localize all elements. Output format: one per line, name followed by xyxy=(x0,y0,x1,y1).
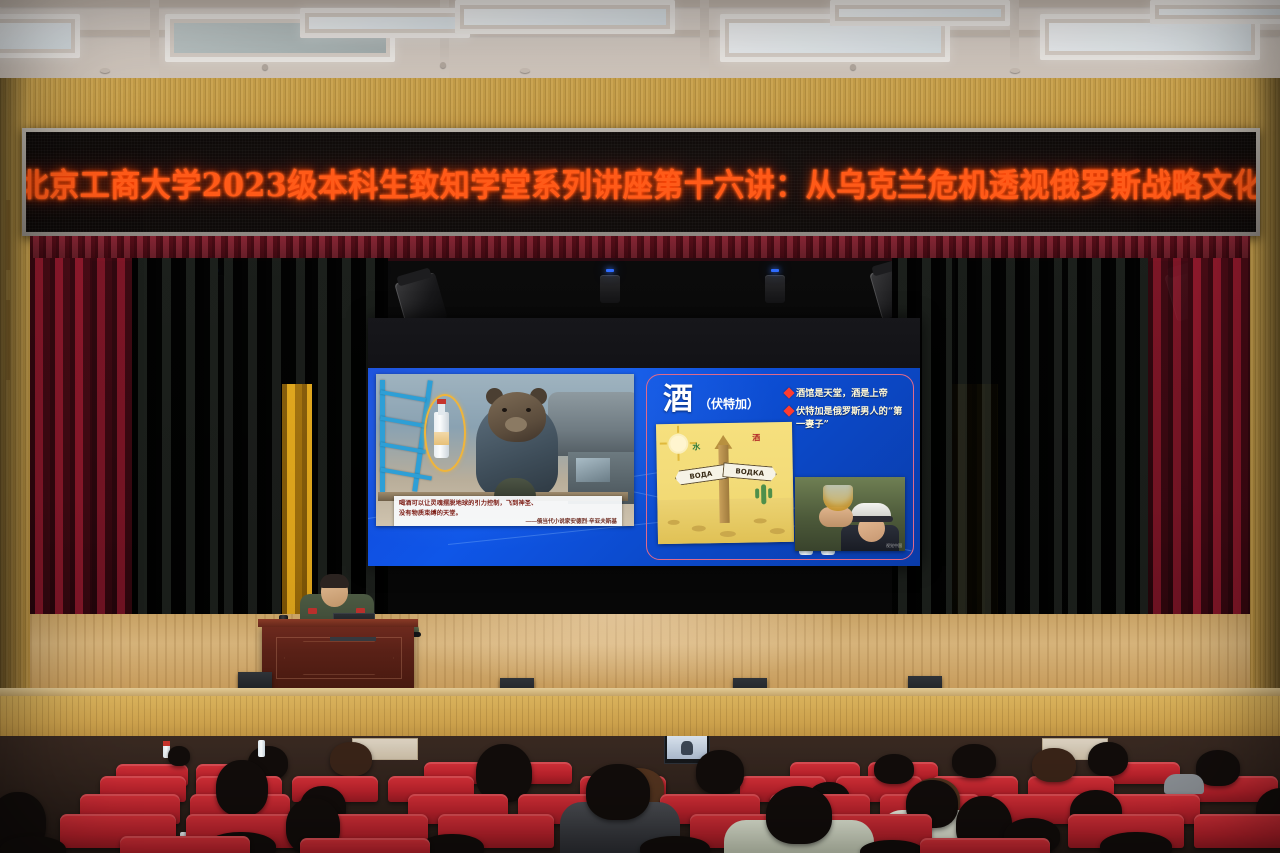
sun-icon xyxy=(670,436,686,452)
skylight xyxy=(300,8,470,38)
slide-quote-box: 喝酒可以让灵魂摆脱地球的引力控制，飞到神圣、 没有物质束缚的天堂。 ——俄当代小… xyxy=(394,496,622,526)
audience-seating xyxy=(0,736,1280,853)
photo-watermark: 视觉中国 xyxy=(886,543,902,549)
military-truck-tank xyxy=(548,392,634,456)
audience-head xyxy=(0,836,66,853)
audience-head xyxy=(216,760,268,816)
seat[interactable] xyxy=(120,836,250,853)
diamond-bullet-icon xyxy=(783,405,794,416)
lectern-top xyxy=(258,619,418,627)
ceiling-downlight xyxy=(100,68,110,73)
stage-edge xyxy=(0,688,1280,696)
skylight xyxy=(830,0,1010,26)
thermos-dark xyxy=(168,746,190,766)
cactus-icon xyxy=(761,484,766,504)
bear-with-vodka-photo: 喝酒可以让灵魂摆脱地球的引力控制，飞到神圣、 没有物质束缚的天堂。 ——俄当代小… xyxy=(376,374,634,526)
bear-eye xyxy=(526,408,531,412)
sun-ray xyxy=(677,426,679,433)
bear-eye xyxy=(502,408,507,412)
desert-signpost-cartoon: 水 酒 ВОДА ВОДКА xyxy=(656,422,794,544)
bullet-text: 伏特加是俄罗斯男人的“第一妻子” xyxy=(796,405,907,431)
slide-bullet-item: 伏特加是俄罗斯男人的“第一妻子” xyxy=(785,405,907,431)
stage-light-led-icon xyxy=(771,269,779,272)
truck-window xyxy=(576,458,610,482)
skylight xyxy=(1150,0,1280,24)
audience-head xyxy=(640,836,710,853)
stage-floor-glow xyxy=(410,614,830,688)
laptop-base xyxy=(330,637,376,641)
sailor-hat xyxy=(851,503,891,518)
ceiling-downlight xyxy=(850,64,856,70)
slide-bullet-item: 酒馆是天堂，酒是上帝 xyxy=(785,387,907,400)
audience-head xyxy=(586,764,650,820)
audience-head xyxy=(330,742,372,776)
laptop-screen xyxy=(667,736,707,759)
ceiling-downlight xyxy=(520,68,530,73)
sun-ray xyxy=(660,443,667,445)
stage-apron-wall xyxy=(0,688,1280,740)
audience-head xyxy=(766,786,832,844)
skylight xyxy=(0,14,80,58)
grey-cap xyxy=(1164,774,1204,794)
audience-head xyxy=(1100,832,1172,853)
stage-light-icon xyxy=(600,275,620,303)
ceiling-beam xyxy=(150,0,159,78)
auditorium-photo: 北京工商大学2023级本科生致知学堂系列讲座第十六讲：从乌克兰危机透视俄罗斯战略… xyxy=(0,0,1280,853)
wall-seam xyxy=(6,200,10,270)
led-display-screen: 喝酒可以让灵魂摆脱地球的引力控制，飞到神圣、 没有物质束缚的天堂。 ——俄当代小… xyxy=(368,318,920,566)
ceiling-downlight xyxy=(262,64,268,70)
skylight xyxy=(455,0,675,34)
seat[interactable] xyxy=(920,838,1050,853)
cartoon-label-water: 水 xyxy=(692,441,700,452)
bullet-text: 酒馆是天堂，酒是上帝 xyxy=(796,387,888,400)
led-banner-text: 北京工商大学2023级本科生致知学堂系列讲座第十六讲：从乌克兰危机透视俄罗斯战略… xyxy=(26,159,1256,206)
quote-line-1: 喝酒可以让灵魂摆脱地球的引力控制，飞到神圣、 xyxy=(399,499,617,509)
sign-vodka: ВОДКА xyxy=(722,462,777,482)
quote-line-2: 没有物质束缚的天堂。 xyxy=(399,509,617,519)
drinking-glass xyxy=(823,485,853,511)
sailor-drinking-photo: 视觉中国 xyxy=(795,477,905,551)
audience-head xyxy=(696,750,744,794)
led-banner-screen: 北京工商大学2023级本科生致知学堂系列讲座第十六讲：从乌克兰危机透视俄罗斯战略… xyxy=(26,132,1256,232)
rank-insignia xyxy=(308,608,317,614)
seat[interactable] xyxy=(1194,814,1280,848)
audience-head xyxy=(1088,742,1128,776)
ceiling-downlight xyxy=(1010,68,1020,73)
signpost xyxy=(718,445,729,523)
highlight-ellipse xyxy=(424,394,466,472)
seat[interactable] xyxy=(300,838,430,853)
audience-head xyxy=(874,754,914,784)
ceiling-beam xyxy=(700,0,709,78)
diamond-bullet-icon xyxy=(783,387,794,398)
presentation-slide: 喝酒可以让灵魂摆脱地球的引力控制，飞到神圣、 没有物质束缚的天堂。 ——俄当代小… xyxy=(368,368,920,566)
wall-seam xyxy=(6,300,10,380)
audience-head xyxy=(1032,748,1076,782)
ceiling-beam xyxy=(1010,0,1019,78)
ceiling-downlight xyxy=(440,62,446,68)
slide-heading-char: 酒 xyxy=(663,385,693,415)
lectern xyxy=(262,625,414,688)
slide-right-panel: 酒 （伏特加） 水 酒 ВОДА ВОДКА xyxy=(646,374,914,560)
audience-head xyxy=(952,744,996,778)
cartoon-label-wine: 酒 xyxy=(752,432,760,443)
video-feed-speaker xyxy=(681,741,693,755)
speaker-hair xyxy=(320,574,349,588)
led-banner-frame: 北京工商大学2023级本科生致知学堂系列讲座第十六讲：从乌克兰危机透视俄罗斯战略… xyxy=(22,128,1260,236)
lectern-diamond-inlay xyxy=(284,641,394,675)
bear-snout xyxy=(505,417,527,432)
screen-top-band xyxy=(368,318,920,368)
quote-attribution: ——俄当代小说家安德烈·辛亚夫斯基 xyxy=(399,518,617,526)
stage-valance xyxy=(30,236,1250,258)
stage-light-led-icon xyxy=(606,269,614,272)
apron-wood-panelling xyxy=(0,696,1280,740)
slide-heading-sub: （伏特加） xyxy=(699,395,759,412)
slide-bullet-list: 酒馆是天堂，酒是上帝 伏特加是俄罗斯男人的“第一妻子” xyxy=(785,387,907,436)
stage-light-icon xyxy=(765,275,785,303)
sun-ray xyxy=(677,454,679,461)
water-bottle xyxy=(258,740,265,757)
